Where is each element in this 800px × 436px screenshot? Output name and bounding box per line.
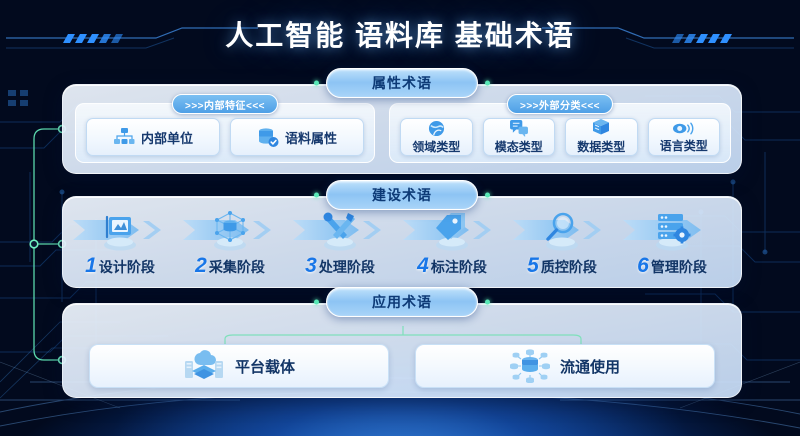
network-database-icon	[207, 209, 253, 253]
card-label: 数据类型	[577, 138, 625, 155]
card-label: 平台载体	[235, 356, 295, 377]
group-label-external: >>>外部分类<<<	[507, 94, 613, 114]
stage-item-1[interactable]: 1 设计阶段	[67, 209, 173, 281]
card-platform-carrier[interactable]: 平台载体	[89, 344, 389, 388]
tools-icon	[317, 209, 363, 253]
card-modality-type[interactable]: 模态类型	[483, 118, 556, 156]
section-pill-application: 应用术语	[326, 287, 478, 317]
stage-list: 1 设计阶段	[63, 197, 741, 287]
layers-icon	[593, 119, 609, 137]
distributed-database-icon	[510, 349, 550, 383]
stage-number: 6	[637, 255, 649, 276]
card-label: 流通使用	[560, 356, 620, 377]
stage-label: 设计阶段	[99, 260, 155, 274]
group-internal-features: >>>内部特征<<< 内部单位	[75, 103, 375, 163]
stage-number: 3	[305, 255, 317, 276]
stage-label: 管理阶段	[651, 260, 707, 274]
card-label: 语料属性	[285, 128, 337, 147]
stage-number: 4	[417, 255, 429, 276]
section-attribute-panel: 属性术语 >>>内部特征<<< 内部单位	[62, 84, 742, 174]
stage-label: 采集阶段	[209, 260, 265, 274]
stage-number: 5	[527, 255, 539, 276]
page-header: 人工智能 语料库 基础术语	[0, 8, 800, 60]
section-pill-construction: 建设术语	[326, 180, 478, 210]
section-construction-panel: 建设术语	[62, 196, 742, 288]
card-label: 语言类型	[660, 137, 708, 154]
card-label: 内部单位	[141, 128, 193, 147]
card-domain-type[interactable]: 领域类型	[400, 118, 473, 156]
stage-label: 质控阶段	[541, 260, 597, 274]
globe-icon	[428, 120, 445, 137]
chat-bubbles-icon	[510, 120, 528, 137]
card-data-type[interactable]: 数据类型	[565, 118, 638, 156]
tag-icon	[429, 209, 475, 253]
card-circulation-usage[interactable]: 流通使用	[415, 344, 715, 388]
stage-item-6[interactable]: 6 管理阶段	[619, 209, 725, 281]
card-corpus-attributes[interactable]: 语料属性	[230, 118, 364, 156]
blueprint-icon	[97, 209, 143, 253]
title-decoration-left	[6, 26, 258, 52]
page-title: 人工智能 语料库 基础术语	[225, 14, 575, 54]
server-gear-icon	[649, 209, 695, 253]
eye-sound-icon	[673, 121, 694, 136]
stage-item-4[interactable]: 4 标注阶段	[399, 209, 505, 281]
section-pill-attribute: 属性术语	[326, 68, 478, 98]
section-application-panel: 应用术语 平台载体	[62, 303, 742, 398]
stage-number: 2	[195, 255, 207, 276]
stage-item-2[interactable]: 2 采集阶段	[177, 209, 283, 281]
group-label-internal: >>>内部特征<<<	[172, 94, 278, 114]
card-internal-unit[interactable]: 内部单位	[86, 118, 220, 156]
title-decoration-right	[542, 26, 794, 52]
application-bracket-connector	[89, 326, 717, 346]
hierarchy-icon	[113, 127, 135, 147]
card-language-type[interactable]: 语言类型	[648, 118, 721, 156]
magnifier-icon	[539, 209, 585, 253]
card-label: 模态类型	[495, 138, 543, 155]
stage-number: 1	[85, 255, 97, 276]
stage-item-5[interactable]: 5 质控阶段	[509, 209, 615, 281]
application-card-list: 平台载体	[89, 344, 715, 388]
cloud-platform-icon	[183, 350, 225, 382]
card-label: 领域类型	[412, 138, 460, 155]
stage-label: 标注阶段	[431, 260, 487, 274]
stage-item-3[interactable]: 3 处理阶段	[287, 209, 393, 281]
database-check-icon	[257, 127, 279, 148]
stage-label: 处理阶段	[319, 260, 375, 274]
group-external-classification: >>>外部分类<<< 领域类型	[389, 103, 731, 163]
